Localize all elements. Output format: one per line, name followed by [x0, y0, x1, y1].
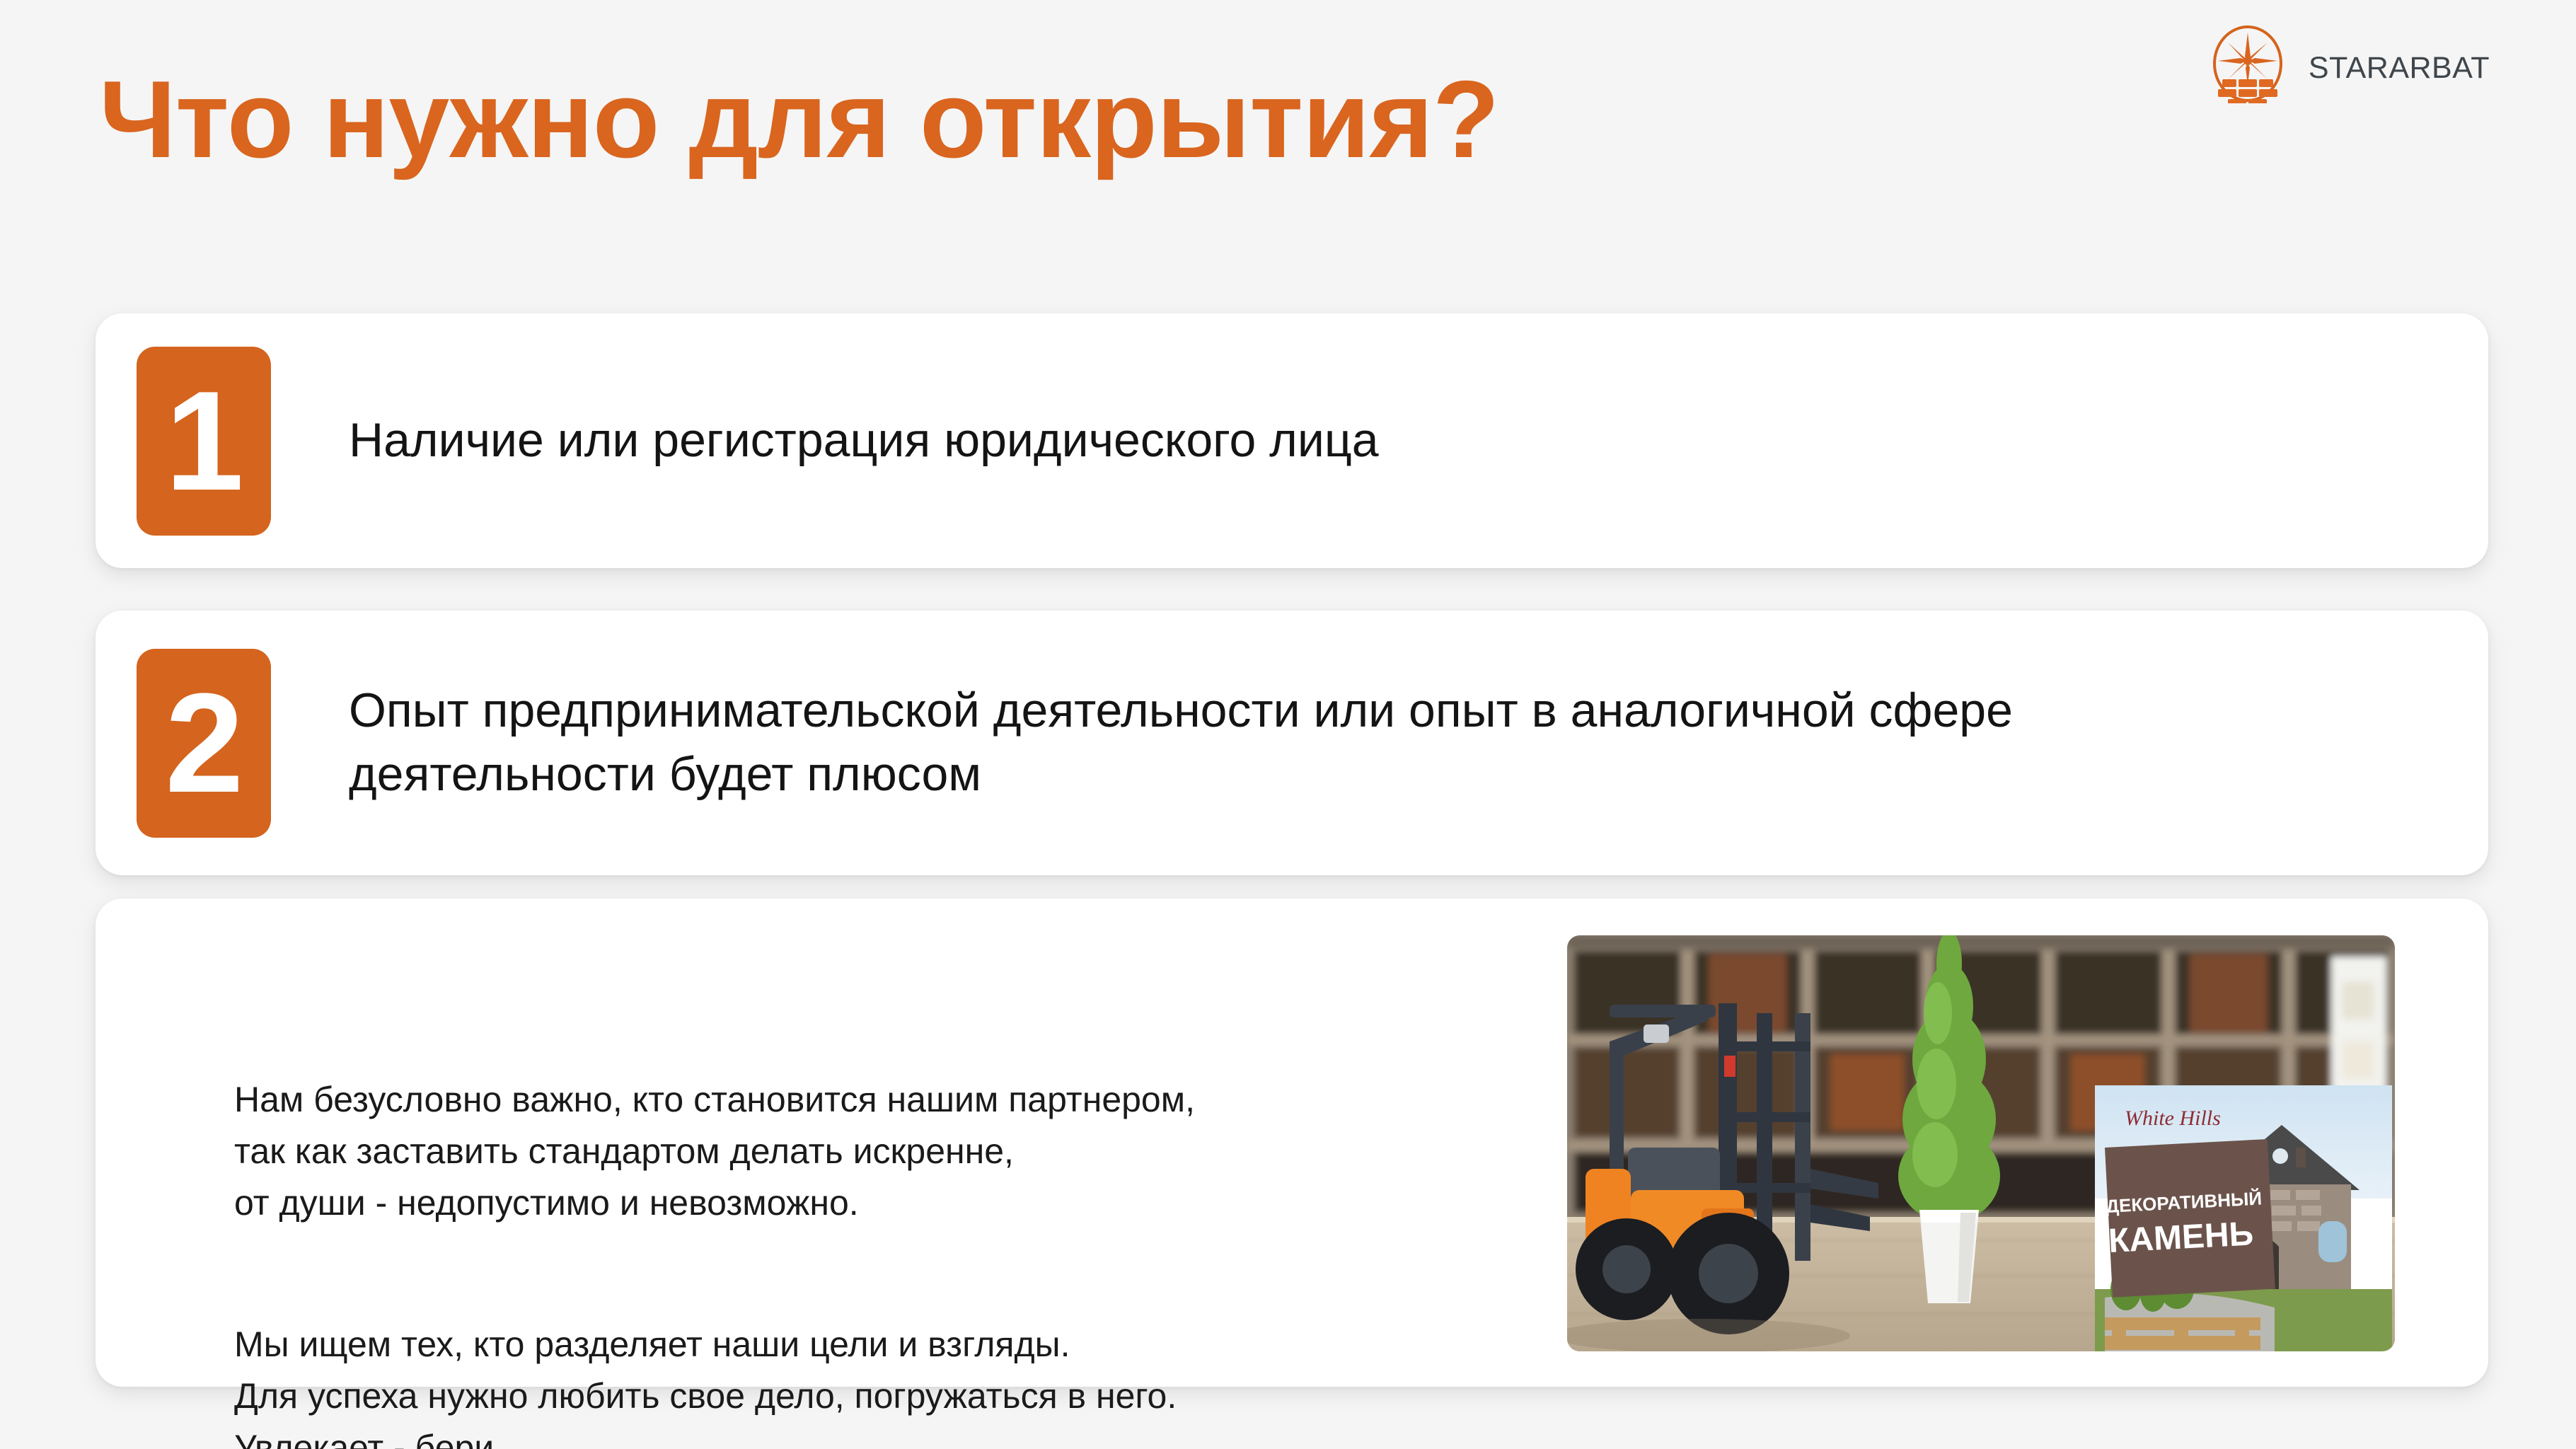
philosophy-paragraph-1: Нам безусловно важно, кто становится наш…: [234, 1074, 1578, 1229]
slide: StarArbat Что нужно для открытия? 1 Нали…: [0, 0, 2576, 1449]
brand-name: StarArbat: [2309, 42, 2490, 86]
step-text: Наличие или регистрация юридического лиц…: [349, 409, 1379, 473]
page-title: Что нужно для открытия?: [99, 62, 1499, 178]
step-row: 1 Наличие или регистрация юридического л…: [137, 313, 2488, 568]
step-number-badge: 1: [137, 347, 271, 536]
brand-logo: StarArbat: [2208, 24, 2490, 103]
step-card-1: 1 Наличие или регистрация юридического л…: [96, 313, 2488, 568]
svg-text:КАМЕНЬ: КАМЕНЬ: [2108, 1215, 2255, 1260]
philosophy-card: Нам безусловно важно, кто становится наш…: [96, 899, 2488, 1387]
philosophy-text: Нам безусловно важно, кто становится наш…: [234, 1022, 1578, 1449]
step-card-2: 2 Опыт предпринимательской деятельности …: [96, 611, 2488, 875]
philosophy-paragraph-2: Мы ищем тех, кто разделяет наши цели и в…: [234, 1319, 1578, 1449]
svg-text:White Hills: White Hills: [2125, 1107, 2221, 1130]
showroom-photo: White Hills ДЕКОРАТИВНЫЙ КАМЕНЬ: [1567, 935, 2395, 1351]
step-text: Опыт предпринимательской деятельности ил…: [349, 679, 2118, 807]
step-number-badge: 2: [137, 649, 271, 838]
starburst-brick-circle-icon: [2208, 24, 2287, 103]
step-row: 2 Опыт предпринимательской деятельности …: [137, 611, 2488, 875]
